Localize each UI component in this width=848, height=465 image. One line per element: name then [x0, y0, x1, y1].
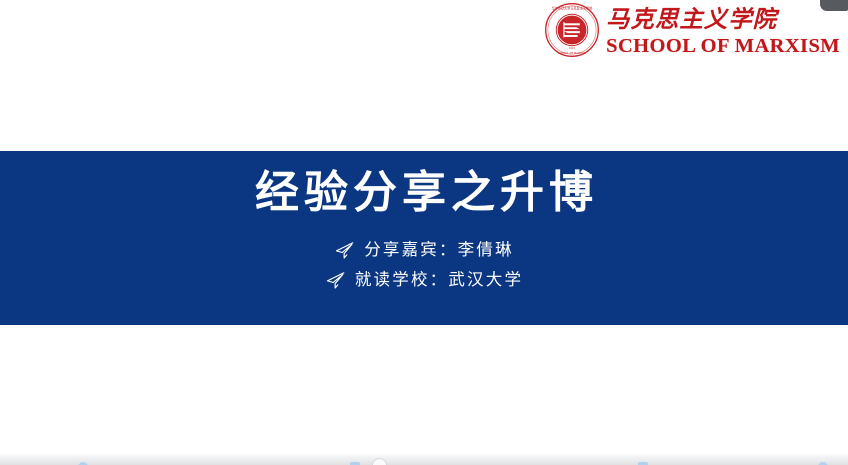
paper-plane-icon: [325, 270, 346, 291]
presentation-slide: 华中师范大学马克思主义学院 SCHOOL OF MARXISM 1927 马克思…: [0, 0, 848, 453]
slide-subtitle-list: 分享嘉宾：李倩琳 就读学校：武汉大学: [0, 235, 848, 295]
svg-text:SCHOOL OF MARXISM: SCHOOL OF MARXISM: [558, 51, 586, 55]
school-name-chinese-calligraphy: 马克思主义学院: [606, 3, 820, 35]
school-name-english: SCHOOL OF MARXISM: [606, 36, 840, 57]
school-seal-emblem: 华中师范大学马克思主义学院 SCHOOL OF MARXISM 1927: [544, 2, 600, 58]
video-slide-screen: 华中师范大学马克思主义学院 SCHOOL OF MARXISM 1927 马克思…: [0, 0, 848, 465]
title-banner: 经验分享之升博 分享嘉宾：李倩琳 就读学校：武汉大学: [0, 151, 848, 325]
subtitle-school-text: 就读学校：武汉大学: [355, 265, 523, 295]
progress-handle[interactable]: [372, 458, 387, 465]
svg-text:马克思主义学院: 马克思主义学院: [606, 5, 780, 33]
paper-plane-icon: [334, 240, 355, 261]
subtitle-line-school: 就读学校：武汉大学: [0, 265, 848, 295]
subtitle-guest-text: 分享嘉宾：李倩琳: [364, 235, 514, 265]
svg-text:华中师范大学马克思主义学院: 华中师范大学马克思主义学院: [552, 5, 593, 10]
player-toolbar[interactable]: [0, 453, 848, 465]
school-logo-wordmark: 马克思主义学院 SCHOOL OF MARXISM: [606, 3, 840, 57]
svg-text:1927: 1927: [569, 47, 575, 50]
slide-title: 经验分享之升博: [0, 169, 848, 217]
subtitle-line-guest: 分享嘉宾：李倩琳: [0, 235, 848, 265]
school-logo: 华中师范大学马克思主义学院 SCHOOL OF MARXISM 1927 马克思…: [544, 2, 840, 58]
